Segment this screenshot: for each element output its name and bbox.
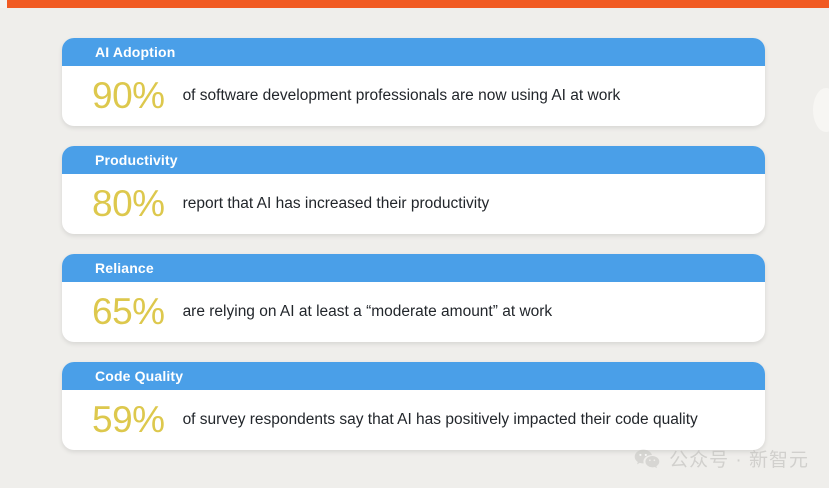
- stat-card: Code Quality 59% of survey respondents s…: [62, 362, 765, 450]
- top-bar-left-gap: [0, 0, 7, 8]
- stat-card-title: Productivity: [95, 152, 178, 168]
- stat-value: 59%: [92, 401, 165, 438]
- stat-card: Reliance 65% are relying on AI at least …: [62, 254, 765, 342]
- stat-description: of software development professionals ar…: [183, 87, 621, 106]
- stat-card-body: 80% report that AI has increased their p…: [62, 174, 765, 234]
- stat-card-header: AI Adoption: [62, 38, 765, 66]
- stat-description: report that AI has increased their produ…: [183, 195, 490, 214]
- stat-value: 80%: [92, 185, 165, 222]
- stat-card-title: Code Quality: [95, 368, 183, 384]
- top-accent-bar: [7, 0, 829, 8]
- stat-description: are relying on AI at least a “moderate a…: [183, 303, 553, 322]
- stat-card-body: 65% are relying on AI at least a “modera…: [62, 282, 765, 342]
- page-edge-artifact: [813, 88, 829, 132]
- stat-card-title: Reliance: [95, 260, 154, 276]
- stat-card-header: Code Quality: [62, 362, 765, 390]
- stat-value: 90%: [92, 77, 165, 114]
- stat-card-header: Productivity: [62, 146, 765, 174]
- stat-card: Productivity 80% report that AI has incr…: [62, 146, 765, 234]
- stat-card-body: 90% of software development professional…: [62, 66, 765, 126]
- stat-card-header: Reliance: [62, 254, 765, 282]
- stat-card-list: AI Adoption 90% of software development …: [62, 38, 765, 470]
- stat-card-body: 59% of survey respondents say that AI ha…: [62, 390, 765, 450]
- slide-canvas: AI Adoption 90% of software development …: [0, 0, 829, 488]
- stat-card: AI Adoption 90% of software development …: [62, 38, 765, 126]
- stat-value: 65%: [92, 293, 165, 330]
- stat-description: of survey respondents say that AI has po…: [183, 411, 698, 430]
- stat-card-title: AI Adoption: [95, 44, 175, 60]
